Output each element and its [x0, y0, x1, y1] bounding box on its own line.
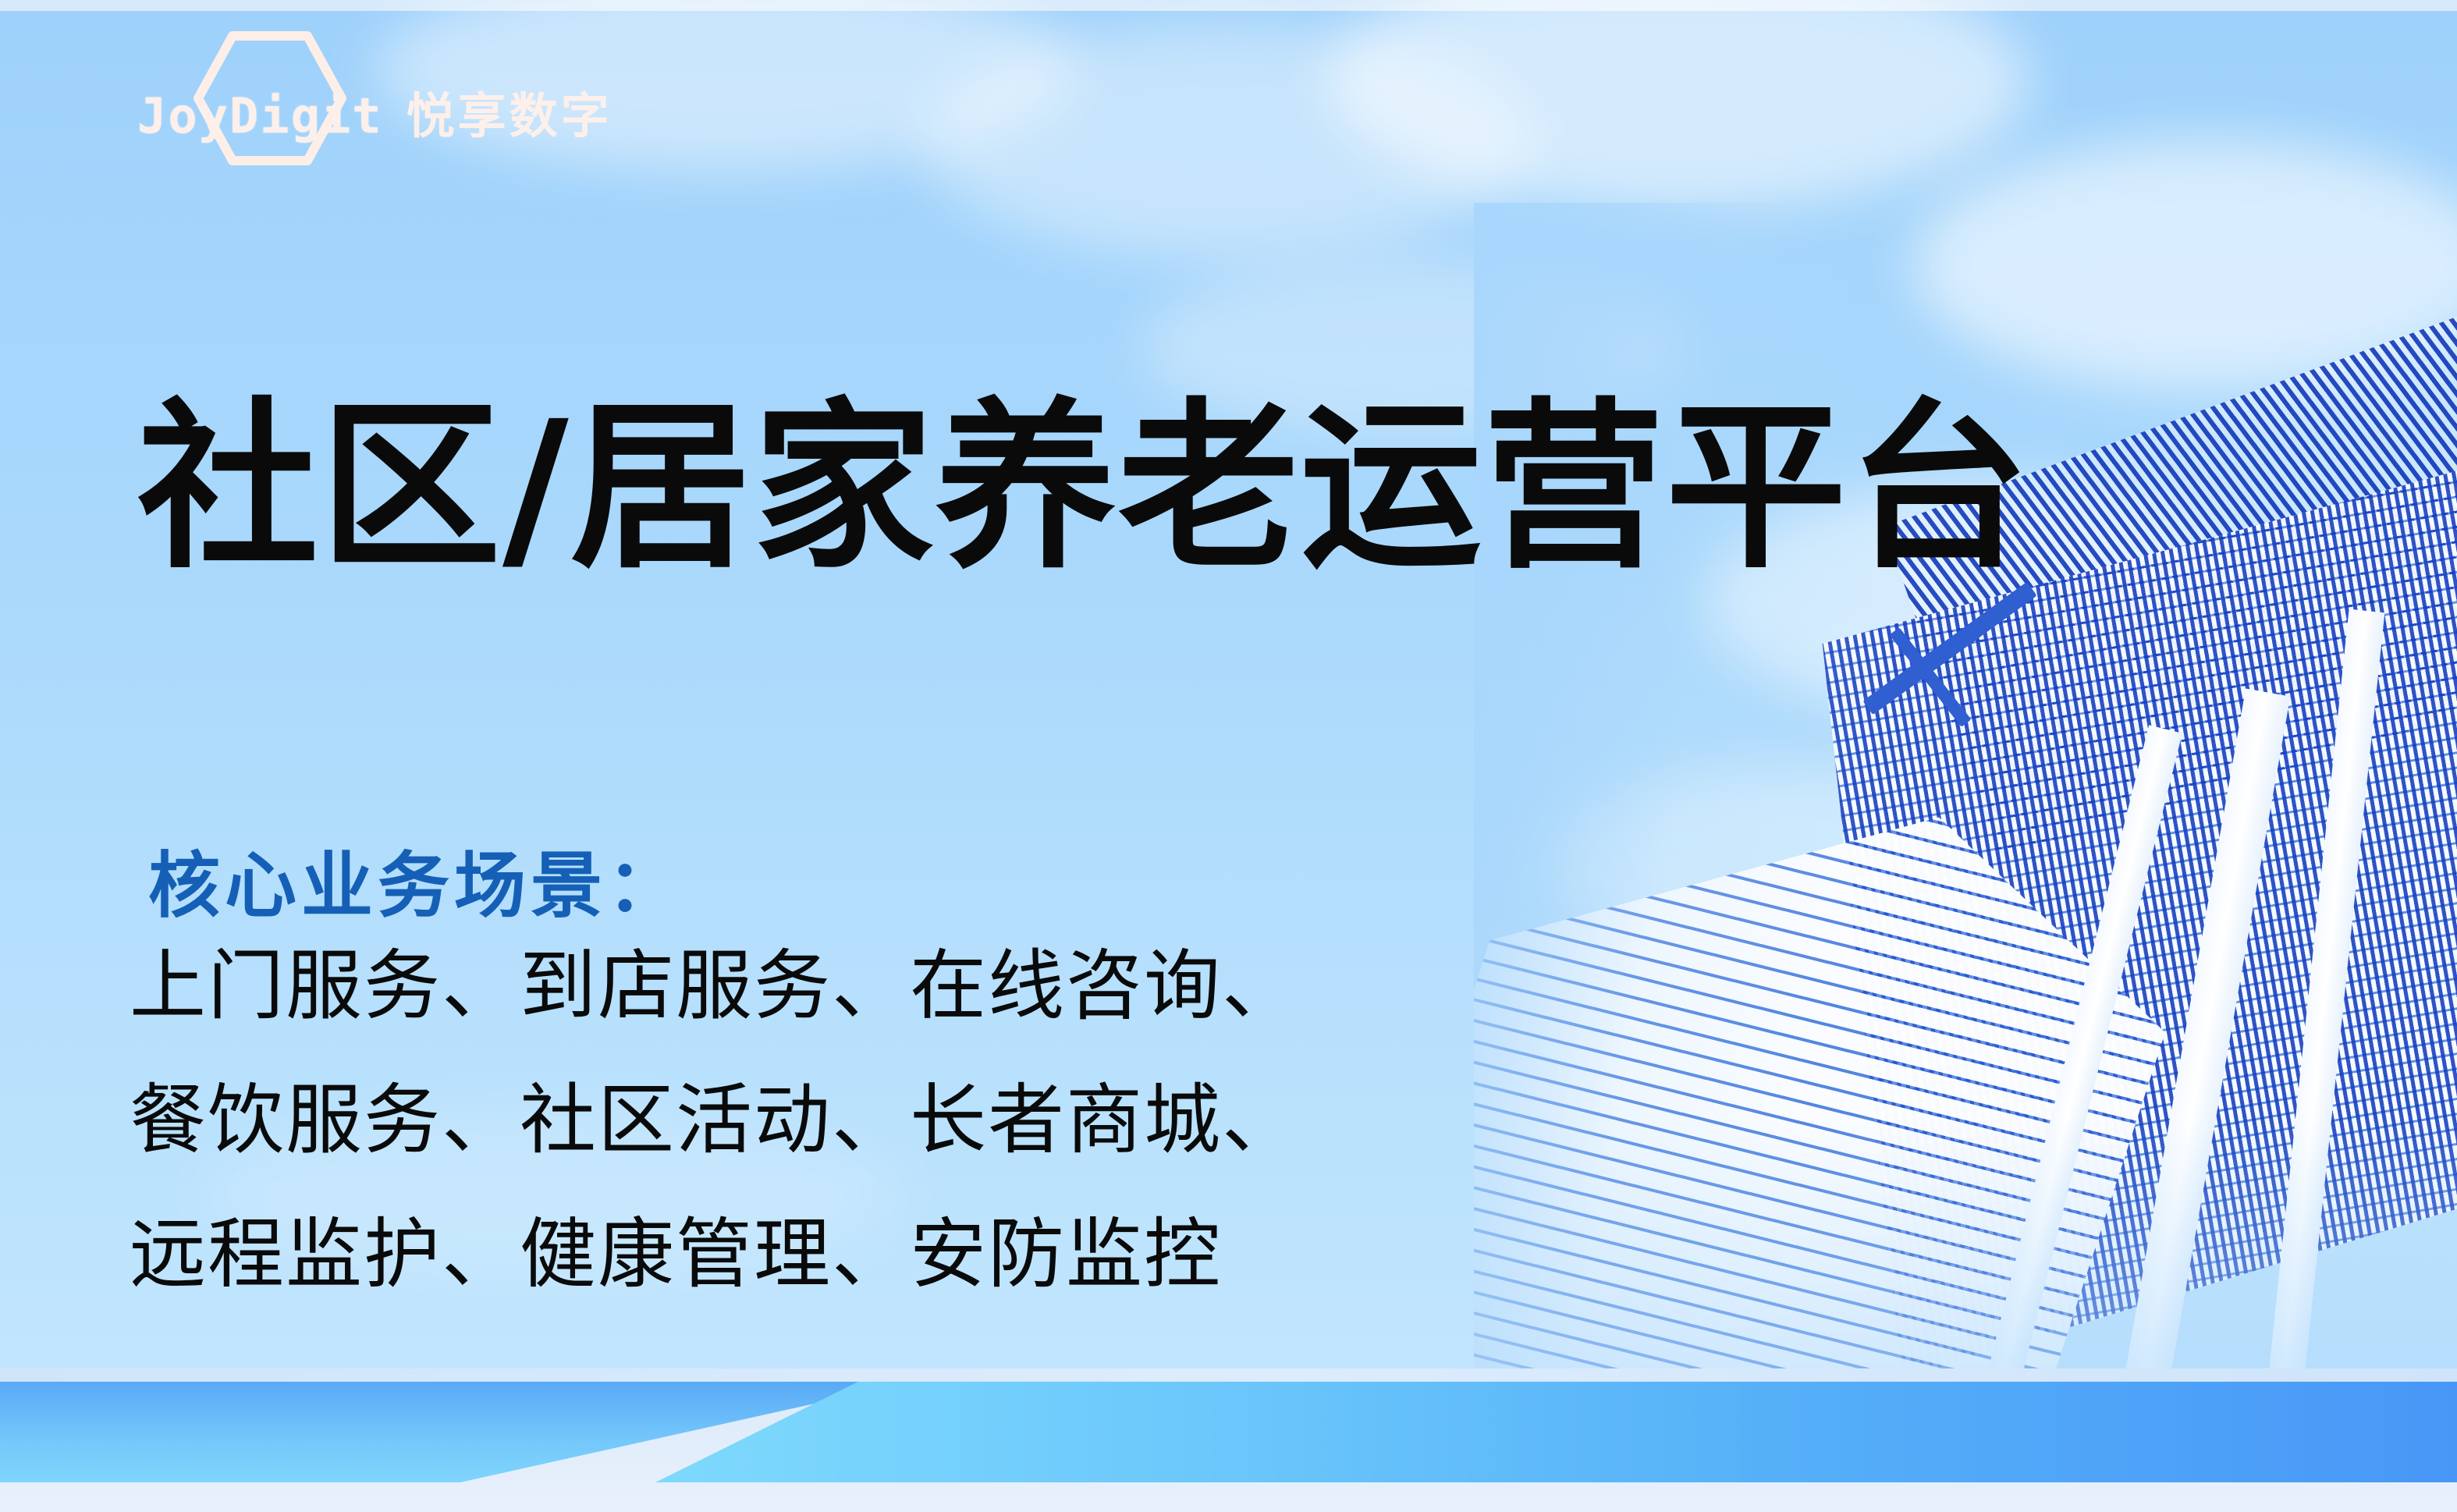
- brand-logo[interactable]: JoyDigit 悦享数字: [137, 76, 612, 147]
- top-edge-strip: [0, 0, 2457, 11]
- page-title: 社区/居家养老运营平台: [137, 392, 2031, 584]
- scenario-line: 远程监护、健康管理、安防监控: [130, 1187, 1300, 1322]
- scenario-list: 上门服务、到店服务、在线咨询、 餐饮服务、社区活动、长者商城、 远程监护、健康管…: [130, 919, 1300, 1322]
- facade-pillar: [2260, 609, 2385, 1373]
- bottom-decorative-band: [0, 1368, 2457, 1512]
- band-shape-right: [655, 1382, 2457, 1482]
- scenario-line: 餐饮服务、社区活动、长者商城、: [130, 1053, 1300, 1187]
- cloud-shape: [1912, 140, 2457, 390]
- slide-root: JoyDigit 悦享数字 社区/居家养老运营平台 核心业务场景： 上门服务、到…: [0, 0, 2457, 1512]
- brand-logo-text: JoyDigit 悦享数字: [137, 76, 612, 147]
- band-top-edge: [0, 1368, 2457, 1382]
- cloud-shape: [1545, 765, 2029, 967]
- section-heading: 核心业务场景：: [148, 828, 683, 932]
- facade-pillar: [2111, 689, 2291, 1373]
- brand-name-cn: 悦享数字: [407, 76, 612, 147]
- brand-name-en: JoyDigit: [137, 87, 383, 144]
- scenario-line: 上门服务、到店服务、在线咨询、: [130, 919, 1300, 1053]
